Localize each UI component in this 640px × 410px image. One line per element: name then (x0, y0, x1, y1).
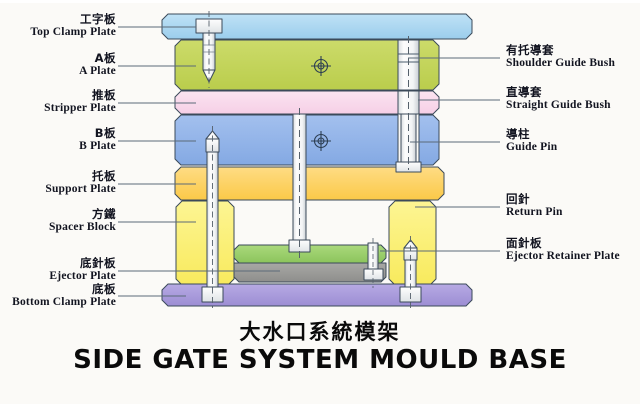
label-a-plate-cn: A板 (79, 52, 116, 65)
plate-stripper-plate (175, 91, 398, 114)
label-b-plate: B板 B Plate (79, 127, 116, 153)
label-ejector-plate: 底針板 Ejector Plate (49, 257, 116, 283)
plate-stripper-plate-right (419, 91, 439, 114)
label-bottom-clamp-plate-cn: 底板 (12, 283, 116, 296)
label-support-plate: 托板 Support Plate (45, 170, 116, 196)
label-a-plate: A板 A Plate (79, 52, 116, 78)
plate-spacer-block-left (176, 201, 234, 285)
bottom-white-bar (0, 404, 640, 410)
label-shoulder-guide-bush-en: Shoulder Guide Bush (506, 57, 615, 70)
label-straight-guide-bush-cn: 直導套 (506, 86, 611, 99)
return-pin-right-shaft (405, 260, 416, 287)
label-b-plate-en: B Plate (79, 140, 116, 153)
label-a-plate-en: A Plate (79, 65, 116, 78)
label-spacer-block-cn: 方鐵 (49, 208, 116, 221)
plate-b-plate-right (419, 115, 439, 165)
label-ejector-retainer-plate-cn: 面針板 (506, 237, 620, 250)
label-return-pin: 回針 Return Pin (506, 193, 563, 219)
label-stripper-plate-en: Stripper Plate (44, 102, 116, 115)
label-stripper-plate: 推板 Stripper Plate (44, 89, 116, 115)
label-spacer-block: 方鐵 Spacer Block (49, 208, 116, 234)
label-bottom-clamp-plate-en: Bottom Clamp Plate (12, 296, 116, 309)
return-pin-left-shaft (207, 152, 218, 287)
label-support-plate-en: Support Plate (45, 183, 116, 196)
top-white-bar (0, 0, 640, 3)
label-shoulder-guide-bush: 有托導套 Shoulder Guide Bush (506, 44, 615, 70)
label-guide-pin-en: Guide Pin (506, 141, 557, 154)
label-spacer-block-en: Spacer Block (49, 221, 116, 234)
label-top-clamp-plate: 工字板 Top Clamp Plate (30, 13, 116, 39)
label-guide-pin-cn: 導柱 (506, 128, 557, 141)
label-guide-pin: 導柱 Guide Pin (506, 128, 557, 154)
label-stripper-plate-cn: 推板 (44, 89, 116, 102)
title-chinese: 大水口系統模架 (0, 316, 640, 346)
label-top-clamp-plate-en: Top Clamp Plate (30, 26, 116, 39)
label-return-pin-cn: 回針 (506, 193, 563, 206)
label-straight-guide-bush-en: Straight Guide Bush (506, 99, 611, 112)
label-support-plate-cn: 托板 (45, 170, 116, 183)
plate-ejector-plate (234, 263, 386, 282)
ejector-screw-head (364, 269, 383, 280)
label-ejector-retainer-plate: 面針板 Ejector Retainer Plate (506, 237, 620, 263)
label-b-plate-cn: B板 (79, 127, 116, 140)
label-straight-guide-bush: 直導套 Straight Guide Bush (506, 86, 611, 112)
label-bottom-clamp-plate: 底板 Bottom Clamp Plate (12, 283, 116, 309)
label-top-clamp-plate-cn: 工字板 (30, 13, 116, 26)
diagram-stage: 工字板 Top Clamp Plate A板 A Plate 推板 Stripp… (0, 0, 640, 410)
label-ejector-retainer-plate-en: Ejector Retainer Plate (506, 250, 620, 263)
plate-a-plate-right (419, 40, 439, 90)
label-ejector-plate-cn: 底針板 (49, 257, 116, 270)
label-shoulder-guide-bush-cn: 有托導套 (506, 44, 615, 57)
label-return-pin-en: Return Pin (506, 206, 563, 219)
title-english: SIDE GATE SYSTEM MOULD BASE (0, 345, 640, 375)
